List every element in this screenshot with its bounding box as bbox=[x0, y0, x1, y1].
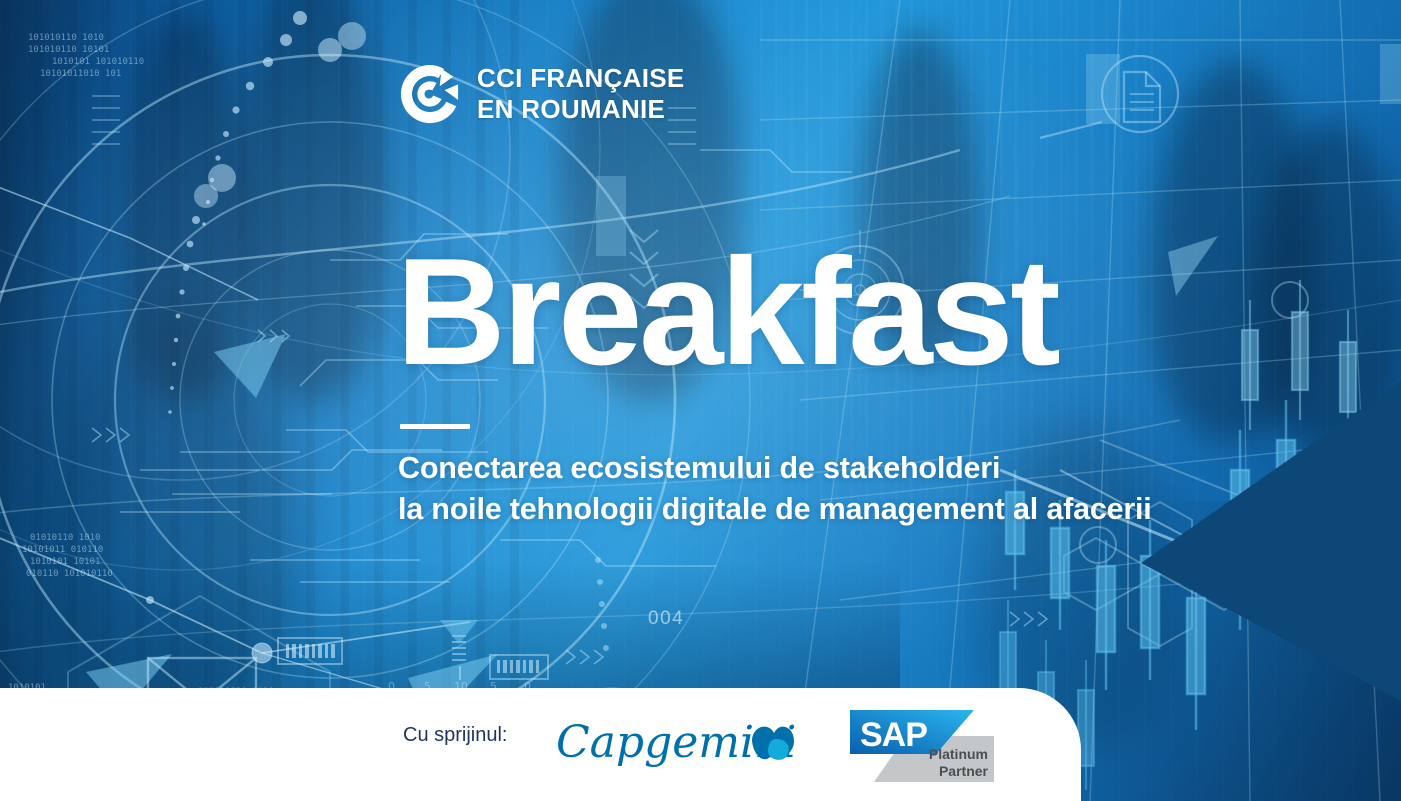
watermark-number: 004 bbox=[648, 608, 684, 630]
page-subtitle: Conectarea ecosistemului de stakeholderi… bbox=[398, 448, 1152, 531]
support-label: Cu sprijinul: bbox=[403, 724, 507, 747]
svg-text:010110 101010110: 010110 101010110 bbox=[26, 569, 113, 579]
svg-text:01010110 1010: 01010110 1010 bbox=[30, 533, 100, 543]
svg-text:1010101 101010110: 1010101 101010110 bbox=[52, 57, 144, 67]
background-composite: 101010110 1010 101010110 10101 1010101 1… bbox=[0, 0, 1401, 801]
svg-text:101010110 10101: 101010110 10101 bbox=[28, 45, 109, 55]
cci-circular-c-logo-icon bbox=[399, 63, 461, 125]
navy-wedge bbox=[1141, 381, 1401, 701]
sap-badge-line2: Partner bbox=[939, 763, 989, 779]
title-divider bbox=[400, 424, 470, 429]
cci-logo: CCI FRANÇAISE EN ROUMANIE bbox=[399, 63, 685, 125]
event-banner: 101010110 1010 101010110 10101 1010101 1… bbox=[0, 0, 1401, 801]
sap-badge-line1: Platinum bbox=[929, 746, 988, 762]
sap-logo: SAP Platinum Partner bbox=[846, 706, 994, 788]
svg-text:10101011 010110: 10101011 010110 bbox=[22, 545, 103, 555]
page-title: Breakfast bbox=[396, 238, 1057, 387]
svg-text:101010110 1010: 101010110 1010 bbox=[28, 33, 104, 43]
svg-text:1010101 10101: 1010101 10101 bbox=[30, 557, 100, 567]
barcode-icon bbox=[278, 638, 548, 679]
capgemini-logo: Capgemini bbox=[556, 711, 794, 773]
cci-logo-text: CCI FRANÇAISE EN ROUMANIE bbox=[477, 63, 685, 125]
cci-logo-line2: EN ROUMANIE bbox=[477, 94, 685, 125]
cci-logo-line1: CCI FRANÇAISE bbox=[477, 63, 685, 94]
page-subtitle-line1: Conectarea ecosistemului de stakeholderi bbox=[398, 448, 1152, 489]
svg-text:10101011010 101: 10101011010 101 bbox=[40, 69, 121, 79]
sap-wordmark: SAP bbox=[860, 716, 927, 754]
page-subtitle-line2: la noile tehnologii digitale de manageme… bbox=[398, 489, 1152, 530]
